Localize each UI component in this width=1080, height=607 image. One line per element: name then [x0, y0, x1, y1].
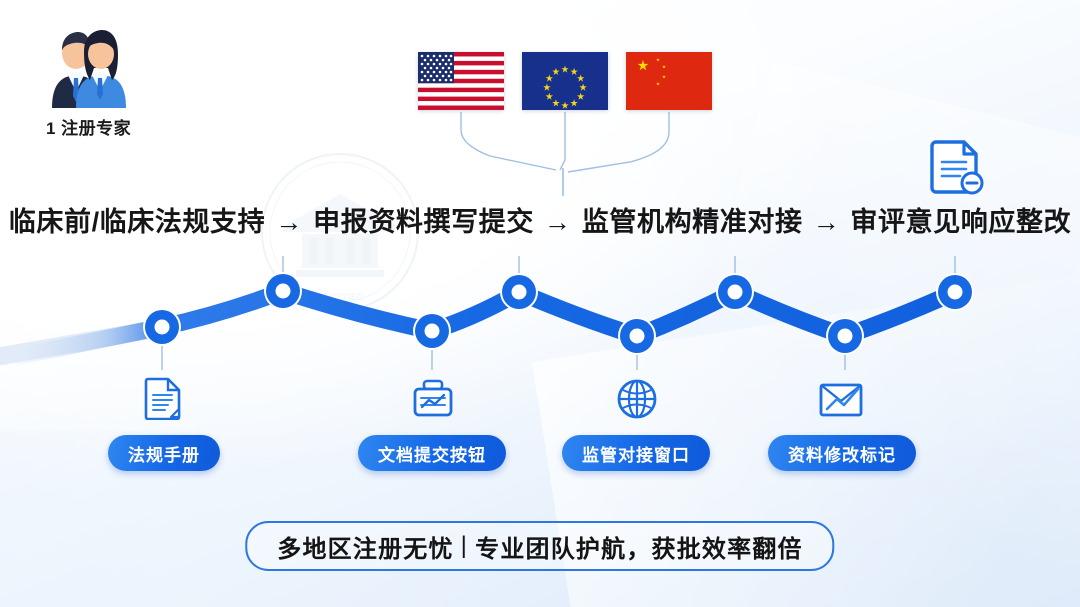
flag-eu — [522, 52, 608, 110]
pill-label: 监管对接窗口 — [582, 441, 690, 466]
pill-regulator-window[interactable]: 监管对接窗口 — [562, 435, 710, 471]
infographic-canvas: CERTIFIED 1 注册专家 — [0, 0, 1080, 607]
flag-usa — [418, 52, 504, 110]
envelope-chart-icon — [818, 382, 864, 418]
pill-revision-mark[interactable]: 资料修改标记 — [768, 435, 916, 471]
bottom-banner: 多地区注册无忧 | 专业团队护航，获批效率翻倍 — [245, 521, 834, 571]
banner-left-text: 多地区注册无忧 — [277, 529, 453, 564]
flag-china — [626, 52, 712, 110]
process-wave — [0, 230, 1080, 460]
globe-icon — [616, 378, 658, 420]
flag-connector-lines — [0, 0, 1080, 230]
pill-label: 资料修改标记 — [788, 441, 896, 466]
banner-separator: | — [454, 532, 475, 560]
document-lines-icon — [144, 376, 182, 420]
pill-regulation-handbook[interactable]: 法规手册 — [108, 435, 220, 471]
banner-right-text: 专业团队护航，获批效率翻倍 — [475, 529, 803, 564]
document-edit-icon — [930, 138, 984, 198]
briefcase-chart-icon — [412, 378, 454, 418]
flags-layer — [0, 0, 1080, 230]
pill-label: 法规手册 — [128, 441, 200, 466]
pill-label: 文档提交按钮 — [378, 441, 486, 466]
pill-document-submit[interactable]: 文档提交按钮 — [358, 435, 506, 471]
